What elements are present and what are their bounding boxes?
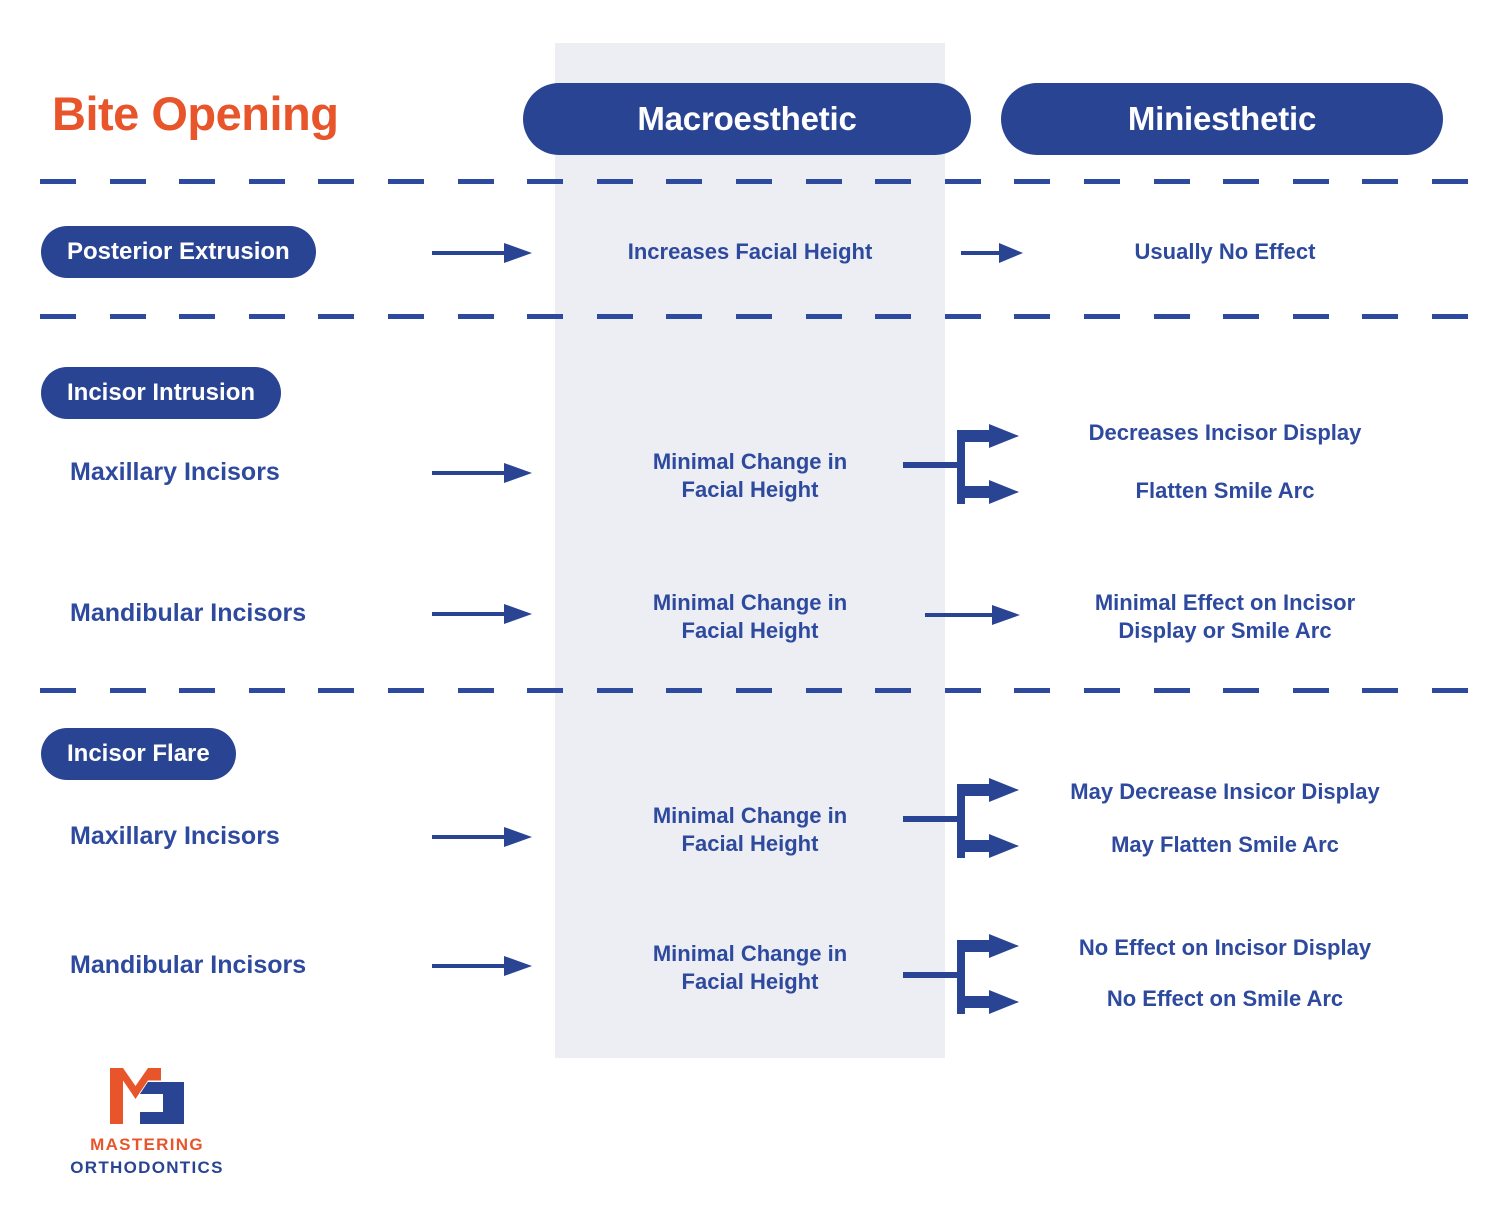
dash-segment: [527, 688, 563, 693]
dash-segment: [318, 179, 354, 184]
arrow-split-flare-mandibular: [903, 934, 1019, 1020]
dash-segment: [249, 179, 285, 184]
infographic-root: Bite Opening Macroesthetic Miniesthetic …: [0, 0, 1506, 1206]
row-label-flare-mandibular: Mandibular Incisors: [70, 951, 306, 980]
dash-segment: [1154, 314, 1190, 319]
dash-segment: [458, 179, 494, 184]
macroesthetic-column-band: [555, 43, 945, 1058]
arrow-right-mandibular-intrusion-to-macro: [432, 601, 532, 627]
dash-segment: [1432, 314, 1468, 319]
row-pill-incisor-flare-label: Incisor Flare: [67, 740, 210, 768]
dash-segment: [806, 688, 842, 693]
dash-segment: [1362, 179, 1398, 184]
dash-segment: [875, 314, 911, 319]
dash-segment: [1293, 314, 1329, 319]
cell-mini-intrusion-maxillary-1: Decreases Incisor Display: [1025, 419, 1425, 447]
arrow-right-maxillary-flare-to-macro: [432, 824, 532, 850]
dash-segment: [249, 688, 285, 693]
arrow-right-macro-to-mini-posterior: [961, 240, 1023, 266]
dash-segment: [388, 179, 424, 184]
dash-segment: [1293, 688, 1329, 693]
dash-segment: [666, 314, 702, 319]
dash-segment: [458, 688, 494, 693]
dash-segment: [736, 314, 772, 319]
dash-segment: [40, 688, 76, 693]
dash-segment: [666, 688, 702, 693]
row-pill-incisor-intrusion-label: Incisor Intrusion: [67, 379, 255, 407]
row-pill-incisor-intrusion: Incisor Intrusion: [41, 367, 281, 419]
dash-segment: [1223, 314, 1259, 319]
row-label-intrusion-mandibular: Mandibular Incisors: [70, 599, 306, 628]
dash-segment: [1154, 688, 1190, 693]
dash-segment: [110, 314, 146, 319]
dash-segment: [1432, 688, 1468, 693]
divider-after-posterior-extrusion: [40, 314, 1468, 319]
cell-macro-flare-mandibular-line2: Facial Height: [560, 968, 940, 996]
dash-segment: [736, 688, 772, 693]
divider-after-incisor-intrusion: [40, 688, 1468, 693]
row-pill-incisor-flare: Incisor Flare: [41, 728, 236, 780]
dash-segment: [1084, 688, 1120, 693]
dash-segment: [179, 314, 215, 319]
column-header-macroesthetic-label: Macroesthetic: [637, 100, 856, 138]
cell-macro-flare-maxillary: Minimal Change in Facial Height: [560, 802, 940, 857]
dash-segment: [1014, 179, 1050, 184]
cell-macro-intrusion-maxillary-line2: Facial Height: [560, 476, 940, 504]
arrow-right-macro-to-mini-mandibular-intrusion: [925, 602, 1020, 628]
dash-segment: [110, 688, 146, 693]
dash-segment: [806, 179, 842, 184]
dash-segment: [597, 179, 633, 184]
column-header-miniesthetic-label: Miniesthetic: [1128, 100, 1316, 138]
cell-macro-flare-mandibular-line1: Minimal Change in: [560, 940, 940, 968]
cell-mini-intrusion-maxillary-2: Flatten Smile Arc: [1025, 477, 1425, 505]
cell-mini-intrusion-mandibular: Minimal Effect on Incisor Display or Smi…: [1025, 589, 1425, 644]
dash-segment: [1362, 688, 1398, 693]
dash-segment: [388, 688, 424, 693]
dash-segment: [597, 688, 633, 693]
dash-segment: [945, 688, 981, 693]
dash-segment: [1223, 179, 1259, 184]
cell-macro-intrusion-mandibular-line1: Minimal Change in: [560, 589, 940, 617]
dash-segment: [40, 179, 76, 184]
dash-segment: [1154, 179, 1190, 184]
row-pill-posterior-extrusion: Posterior Extrusion: [41, 226, 316, 278]
dash-segment: [597, 314, 633, 319]
dash-segment: [1014, 688, 1050, 693]
arrow-split-intrusion-maxillary: [903, 424, 1019, 510]
cell-mini-posterior-extrusion: Usually No Effect: [1025, 238, 1425, 266]
dash-segment: [179, 179, 215, 184]
dash-segment: [945, 179, 981, 184]
logo-wordmark-line2: ORTHODONTICS: [62, 1158, 232, 1178]
dash-segment: [1223, 688, 1259, 693]
cell-mini-flare-maxillary-1: May Decrease Insicor Display: [1025, 778, 1425, 806]
dash-segment: [666, 179, 702, 184]
mastering-orthodontics-logo-icon: [110, 1068, 184, 1124]
divider-top: [40, 179, 1468, 184]
dash-segment: [1362, 314, 1398, 319]
logo-wordmark-line1: MASTERING: [62, 1135, 232, 1155]
brand-logo: MASTERING ORTHODONTICS: [62, 1068, 232, 1178]
dash-segment: [527, 314, 563, 319]
dash-segment: [249, 314, 285, 319]
dash-segment: [388, 314, 424, 319]
cell-macro-intrusion-maxillary-line1: Minimal Change in: [560, 448, 940, 476]
dash-segment: [806, 314, 842, 319]
arrow-right-maxillary-intrusion-to-macro: [432, 460, 532, 486]
dash-segment: [945, 314, 981, 319]
dash-segment: [458, 314, 494, 319]
cell-macro-intrusion-mandibular-line2: Facial Height: [560, 617, 940, 645]
column-header-miniesthetic: Miniesthetic: [1001, 83, 1443, 155]
cell-macro-flare-maxillary-line1: Minimal Change in: [560, 802, 940, 830]
dash-segment: [1432, 179, 1468, 184]
row-label-intrusion-maxillary: Maxillary Incisors: [70, 458, 280, 487]
cell-mini-flare-mandibular-1: No Effect on Incisor Display: [1025, 934, 1425, 962]
arrow-split-flare-maxillary: [903, 778, 1019, 864]
dash-segment: [318, 688, 354, 693]
cell-mini-flare-maxillary-2: May Flatten Smile Arc: [1025, 831, 1425, 859]
cell-mini-intrusion-mandibular-line1: Minimal Effect on Incisor: [1025, 589, 1425, 617]
cell-macro-flare-maxillary-line2: Facial Height: [560, 830, 940, 858]
dash-segment: [875, 179, 911, 184]
dash-segment: [40, 314, 76, 319]
dash-segment: [1084, 179, 1120, 184]
arrow-right-posterior-to-macro: [432, 240, 532, 266]
dash-segment: [179, 688, 215, 693]
cell-macro-flare-mandibular: Minimal Change in Facial Height: [560, 940, 940, 995]
dash-segment: [736, 179, 772, 184]
dash-segment: [318, 314, 354, 319]
dash-segment: [1293, 179, 1329, 184]
page-title: Bite Opening: [52, 86, 338, 141]
dash-segment: [110, 179, 146, 184]
row-pill-posterior-extrusion-label: Posterior Extrusion: [67, 238, 290, 266]
dash-segment: [1084, 314, 1120, 319]
cell-mini-intrusion-mandibular-line2: Display or Smile Arc: [1025, 617, 1425, 645]
dash-segment: [875, 688, 911, 693]
row-label-flare-maxillary: Maxillary Incisors: [70, 822, 280, 851]
dash-segment: [1014, 314, 1050, 319]
cell-macro-posterior-extrusion: Increases Facial Height: [560, 238, 940, 266]
column-header-macroesthetic: Macroesthetic: [523, 83, 971, 155]
cell-mini-flare-mandibular-2: No Effect on Smile Arc: [1025, 985, 1425, 1013]
arrow-right-mandibular-flare-to-macro: [432, 953, 532, 979]
cell-macro-intrusion-maxillary: Minimal Change in Facial Height: [560, 448, 940, 503]
dash-segment: [527, 179, 563, 184]
cell-macro-intrusion-mandibular: Minimal Change in Facial Height: [560, 589, 940, 644]
